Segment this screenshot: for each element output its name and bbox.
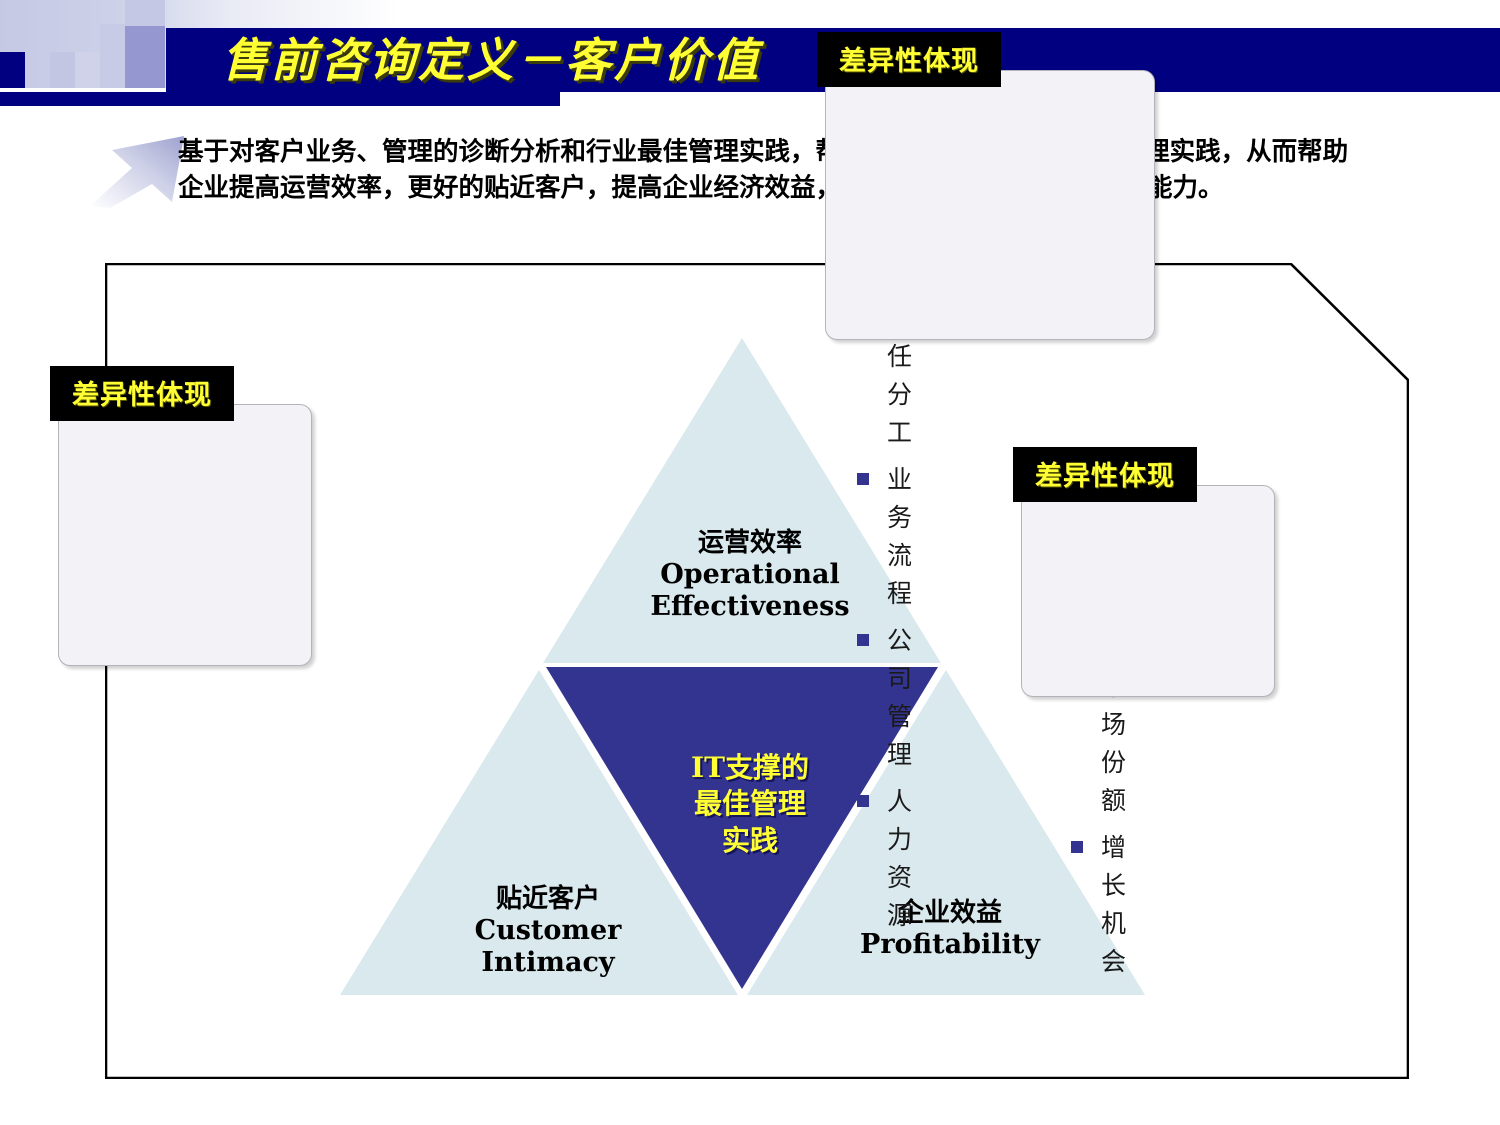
label-center-line3: 实践 — [640, 823, 860, 859]
intro-paragraph: 基于对客户业务、管理的诊断分析和行业最佳管理实践，帮助客户建立IT支撑的最佳管理… — [178, 134, 1368, 206]
deco-square-4 — [100, 24, 125, 88]
list-item: 公司管理 — [853, 622, 912, 774]
callout-top-body — [825, 70, 1155, 340]
deco-square-6 — [125, 0, 165, 26]
label-left-en1: Customer — [398, 915, 698, 947]
slide-canvas: 售前咨询定义－客户价值 基于对客户业务、管理的诊断分析和行业最佳管理实践，帮助客… — [0, 0, 1500, 1125]
title-bar-lower-stripe — [0, 92, 560, 106]
label-profitability: 企业效益 Profitability — [800, 898, 1100, 961]
callout-left-body — [58, 404, 312, 666]
callout-right-heading: 差异性体现 — [1013, 447, 1197, 502]
label-center-line1: IT支撑的 — [640, 750, 860, 786]
list-item: 业务流程 — [853, 461, 912, 613]
deco-square-1 — [0, 52, 25, 88]
label-left-en2: Intimacy — [398, 947, 698, 979]
list-item: 增长机会 — [1067, 829, 1126, 981]
callout-right-body — [1021, 485, 1275, 697]
label-right-en1: Profitability — [800, 929, 1100, 961]
callout-top-heading: 差异性体现 — [817, 32, 1001, 87]
label-it-best-practice: IT支撑的 最佳管理 实践 — [640, 750, 860, 859]
label-center-line2: 最佳管理 — [640, 786, 860, 822]
deco-square-2 — [50, 52, 75, 88]
deco-square-3 — [75, 52, 100, 88]
callout-left-heading: 差异性体现 — [50, 366, 234, 421]
page-title: 售前咨询定义－客户价值 — [222, 29, 761, 91]
label-left-cn: 贴近客户 — [398, 884, 698, 915]
list-item: 人力资源 — [853, 783, 912, 935]
label-customer-intimacy: 贴近客户 Customer Intimacy — [398, 884, 698, 978]
label-right-cn: 企业效益 — [800, 898, 1100, 929]
